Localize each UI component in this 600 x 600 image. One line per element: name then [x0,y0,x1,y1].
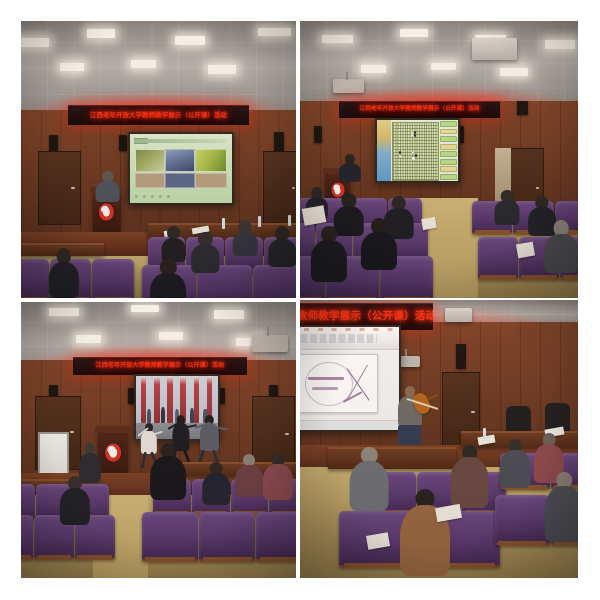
audience-member [500,439,531,486]
university-emblem [99,203,113,220]
seat [21,259,49,298]
seat [478,237,518,279]
seat [253,265,296,298]
led-banner-text: 江西老年开放大学教师教学展示（公开课）活动 [360,107,480,113]
audience-member [49,248,79,295]
audience-member [203,462,231,503]
photo-bottom-right[interactable]: 学教师教学展示（公开课）活动 [300,300,578,578]
air-conditioner [472,38,516,60]
lecturer [95,171,120,201]
performer [194,415,224,467]
audience-member [236,454,264,495]
audience-member [60,476,90,523]
audience-member [233,220,258,253]
audience-member [311,226,347,279]
seat [142,512,198,562]
photo-top-right[interactable]: 江西老年开放大学教师教学展示（公开课）活动 [300,21,578,298]
seat [199,512,255,562]
audience-member [450,445,489,506]
audience-member [350,447,389,508]
led-banner-text: 江西老年开放大学教师教学展示（公开课）活动 [90,112,227,118]
seat [21,515,33,559]
seat [92,259,134,298]
projection-screen-top-left [128,132,234,205]
led-banner-top-left: 江西老年开放大学教师教学展示（公开课）活动 [68,105,250,124]
led-banner-text: 学教师教学展示（公开课）活动 [300,311,433,322]
lecturer [339,154,361,182]
audience-member [545,472,578,539]
audience-member [192,232,220,271]
seat [495,495,550,545]
audience-member [263,454,293,498]
audience-member [545,220,578,270]
audience-member [495,190,520,223]
photo-top-left[interactable]: 江西老年开放大学教师教学展示（公开课）活动 [21,21,296,298]
ppt-title-slide [300,354,378,414]
photo-collage: 江西老年开放大学教师教学展示（公开课）活动 [0,0,600,600]
photo-bottom-left[interactable]: 江西老年开放大学教师教学展示（公开课）活动 [21,302,296,578]
desk-row [328,447,456,468]
seat [256,512,296,562]
audience-member [269,226,297,265]
audience-member [361,218,397,268]
led-banner-bottom-left: 江西老年开放大学教师教学展示（公开课）活动 [73,357,246,374]
audience-member [400,489,450,572]
audience-member [150,443,186,498]
projection-screen-bottom-right [300,325,401,432]
audience-member [161,226,186,259]
go-board [392,122,439,181]
led-banner-top-right: 江西老年开放大学教师教学展示（公开课）活动 [339,101,500,118]
audience-member [150,259,186,298]
projection-screen-top-right [375,118,460,183]
led-banner-text: 江西老年开放大学教师教学展示（公开课）活动 [96,363,225,369]
